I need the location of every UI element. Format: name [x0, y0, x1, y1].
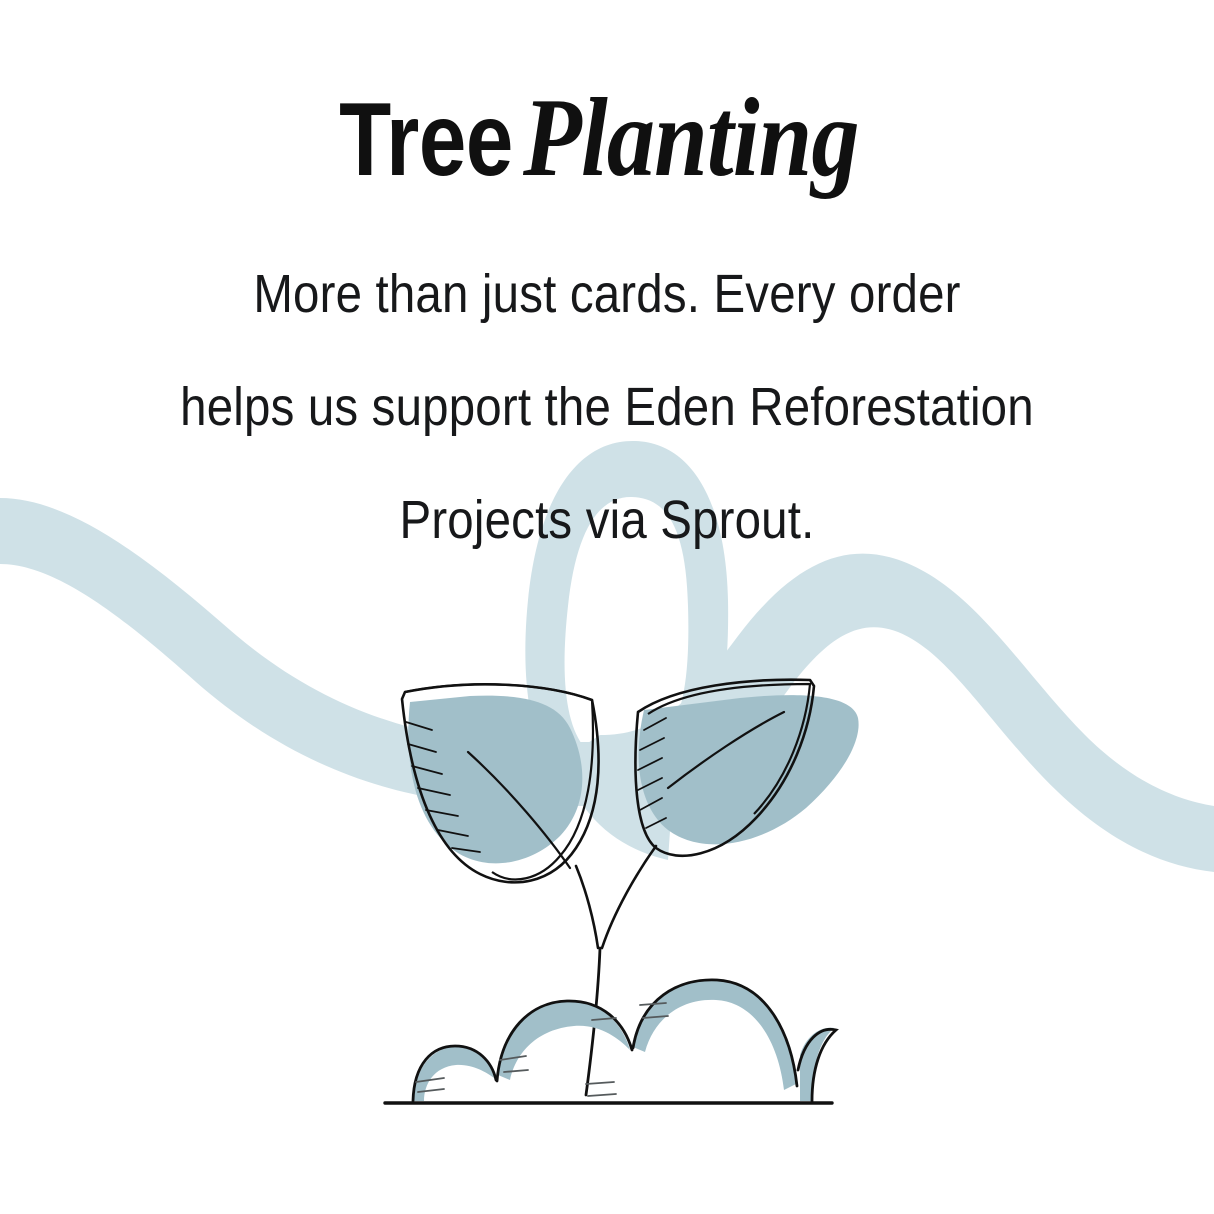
soil-shading	[413, 980, 834, 1101]
stem-left-branch	[576, 866, 598, 948]
seedling-icon	[0, 0, 1214, 1214]
right-leaf-fill	[639, 695, 859, 844]
stem-right-branch	[602, 846, 656, 948]
seedling-illustration	[0, 0, 1214, 1214]
tree-planting-promo-card: TreePlanting More than just cards. Every…	[0, 0, 1214, 1214]
